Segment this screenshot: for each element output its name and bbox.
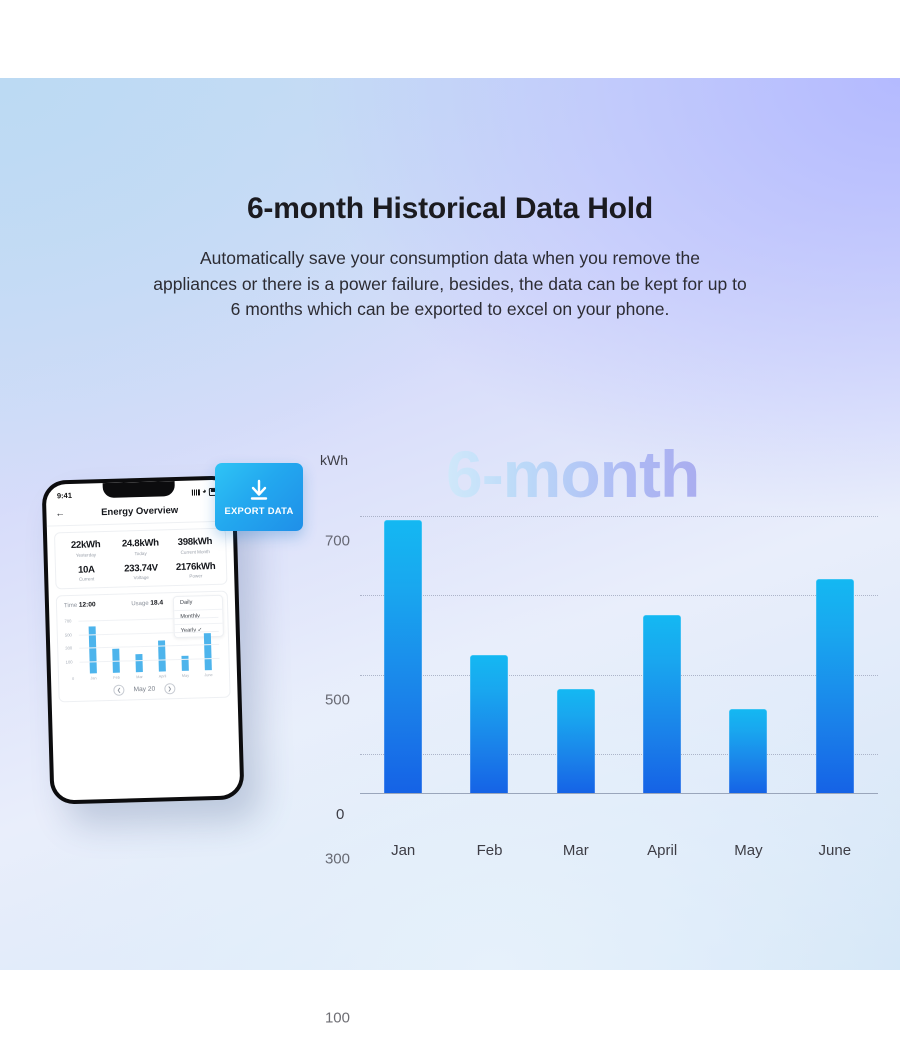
promo-page: 6-month Historical Data Hold Automatical… [0,0,900,1050]
chart-bar-april[interactable] [643,615,681,794]
chart-bar-slot [619,492,705,794]
chart-plot-area: 700500300100 JanFebMarAprilMayJune [360,492,878,794]
phone-stat-label: Yesterday [59,551,114,558]
chart-bar-slot [792,492,878,794]
chart-y-tick-700: 700 [325,532,350,549]
phone-stat-label: Power [169,573,224,580]
chart-bar-slot [360,492,446,794]
phone-stat: 22kWhYesterday [58,539,113,558]
phone-stat-value: 233.74V [114,562,169,575]
chart-bars [360,492,878,794]
mini-chart-bars [80,613,220,674]
download-icon [246,479,272,503]
phone-stat-value: 398kWh [167,536,222,549]
export-data-label: EXPORT DATA [224,505,293,516]
mini-y-tick-100: 100 [66,660,73,665]
chart-bar-mar[interactable] [557,689,595,794]
export-data-badge[interactable]: EXPORT DATA [215,463,303,531]
chart-x-label-april: April [619,842,705,859]
energy-bar-chart: kWh 6-month 700500300100 JanFebMarAprilM… [318,452,878,822]
description-line-2: appliances or there is a power failure, … [120,272,780,298]
page-title: 6-month Historical Data Hold [0,192,900,226]
chevron-right-icon[interactable]: ❯ [164,683,175,694]
chart-bar-slot [533,492,619,794]
chart-y-axis-unit: kWh [320,452,348,468]
chart-bar-slot [705,492,791,794]
mini-x-label-may: May [174,674,196,679]
chart-x-label-june: June [792,842,878,859]
chart-bar-feb[interactable] [470,655,508,794]
chart-x-label-mar: Mar [533,842,619,859]
chart-x-label-may: May [705,842,791,859]
chart-bar-june[interactable] [816,579,854,794]
chart-x-label-jan: Jan [360,842,446,859]
signal-icon [192,489,200,495]
mini-bar-june [204,633,212,670]
phone-mini-chart: 0 JanFebMarAprilMayJune 700500300100 [64,611,222,681]
phone-stat-value: 24.8kWh [113,537,168,550]
phone-notch [103,481,175,498]
phone-frame: 9:41 ◕ ← Energy Overview ↧ 22kWhYesterda… [42,475,245,804]
chart-x-label-feb: Feb [447,842,533,859]
chart-bar-may[interactable] [729,709,767,794]
phone-page-title: Energy Overview [101,505,178,518]
phone-stat: 10ACurrent [59,563,114,582]
mini-bar-mar [135,654,143,672]
phone-stat: 2176kWhPower [168,560,223,579]
stats-card: 22kWhYesterday24.8kWhToday398kWhCurrent … [54,528,228,590]
chart-zero-label: 0 [336,806,344,823]
phone-stat: 398kWhCurrent Month [167,536,222,555]
date-pager: ❮ May 20 ❯ [66,682,222,697]
phone-screen: 9:41 ◕ ← Energy Overview ↧ 22kWhYesterda… [46,479,241,800]
description-line-1: Automatically save your consumption data… [120,246,780,272]
chevron-left-icon[interactable]: ❮ [113,685,124,696]
page-description: Automatically save your consumption data… [120,246,780,323]
phone-stat: 24.8kWhToday [113,537,168,556]
chart-x-labels: JanFebMarAprilMayJune [360,842,878,859]
stats-row-primary: 22kWhYesterday24.8kWhToday398kWhCurrent … [58,536,222,558]
chart-y-tick-500: 500 [325,691,350,708]
usage-chart-card: Time 12:00 Usage 18.4 Yearly ▾ DailyMont… [56,591,231,703]
description-line-3: 6 months which can be exported to excel … [120,297,780,323]
mini-y-tick-300: 300 [65,646,72,651]
wifi-icon: ◕ [202,488,206,495]
phone-stat-label: Current [59,576,114,583]
chart-bar-slot [447,492,533,794]
stats-row-secondary: 10ACurrent233.74VVoltage2176kWhPower [59,560,223,582]
mini-x-label-june: June [197,673,219,678]
usage-stat: Usage 18.4 [131,599,163,607]
chart-y-tick-300: 300 [325,850,350,867]
range-option-daily[interactable]: Daily [174,596,222,611]
phone-stat-label: Current Month [168,548,223,555]
mini-y-tick-500: 500 [65,632,72,637]
phone-stat-value: 2176kWh [168,560,223,573]
mini-y-tick-700: 700 [64,619,71,624]
phone-stat-label: Voltage [114,574,169,581]
chart-y-tick-100: 100 [325,1009,350,1026]
phone-stat-value: 22kWh [58,539,113,552]
chart-bar-jan[interactable] [384,520,422,794]
mini-x-label-mar: Mar [128,675,150,680]
mini-x-label-april: April [151,674,173,679]
mini-chart-x-labels: JanFebMarAprilMayJune [82,673,220,681]
phone-stat-value: 10A [59,563,114,576]
mini-zero-label: 0 [72,677,74,681]
phone-stat-label: Today [113,550,168,557]
phone-nav-bar: ← Energy Overview ↧ [46,500,233,526]
chart-x-axis [360,793,878,794]
mini-x-label-feb: Feb [105,675,127,680]
pager-label: May 20 [133,686,155,694]
phone-stat: 233.74VVoltage [114,562,169,581]
status-time: 9:41 [57,491,72,500]
mini-x-label-jan: Jan [82,676,104,681]
time-stat: Time 12:00 [64,601,96,609]
back-arrow-icon[interactable]: ← [55,508,65,519]
